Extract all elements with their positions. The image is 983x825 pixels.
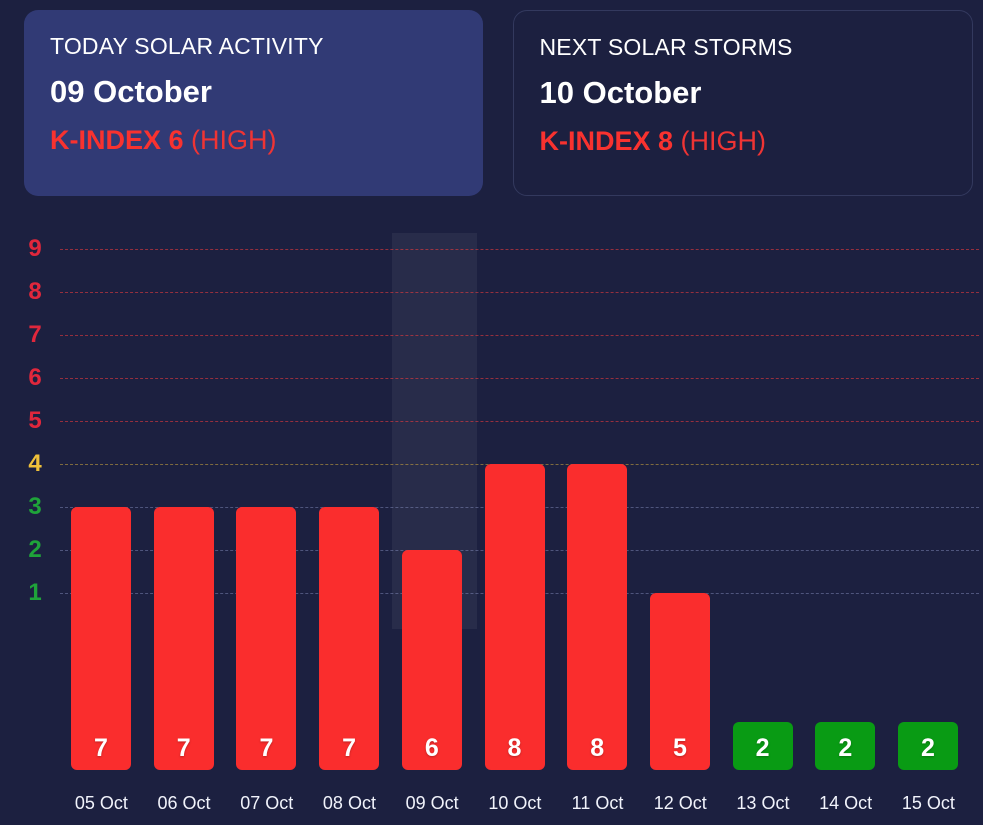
y-axis-tick-7: 7 — [18, 323, 52, 347]
chart-column[interactable]: 609 Oct — [391, 196, 474, 825]
bar-06-oct[interactable]: 7 — [154, 507, 214, 770]
x-axis-label: 11 Oct — [556, 793, 639, 813]
bar-11-oct[interactable]: 8 — [567, 464, 627, 770]
y-axis-tick-9: 9 — [18, 237, 52, 261]
card-title: TODAY SOLAR ACTIVITY — [50, 32, 457, 60]
x-axis-label: 05 Oct — [60, 793, 143, 813]
chart-column[interactable]: 705 Oct — [60, 196, 143, 825]
bar-12-oct[interactable]: 5 — [650, 593, 710, 770]
bar-value-label: 2 — [921, 736, 935, 770]
bar-14-oct[interactable]: 2 — [815, 722, 875, 770]
y-axis-tick-1: 1 — [18, 581, 52, 605]
bar-value-label: 7 — [94, 736, 108, 770]
bar-value-label: 7 — [259, 736, 273, 770]
y-axis-tick-4: 4 — [18, 452, 52, 476]
chart-column[interactable]: 811 Oct — [556, 196, 639, 825]
chart-column[interactable]: 215 Oct — [887, 196, 970, 825]
chart-column[interactable]: 213 Oct — [722, 196, 805, 825]
x-axis-label: 14 Oct — [804, 793, 887, 813]
bar-value-label: 5 — [673, 736, 687, 770]
x-axis-label: 15 Oct — [887, 793, 970, 813]
chart-column[interactable]: 706 Oct — [143, 196, 226, 825]
bar-value-label: 7 — [177, 736, 191, 770]
bar-08-oct[interactable]: 7 — [319, 507, 379, 770]
y-axis-tick-6: 6 — [18, 366, 52, 390]
card-date: 10 October — [540, 75, 947, 111]
chart-column[interactable]: 810 Oct — [474, 196, 557, 825]
card-kindex-level: (HIGH) — [191, 125, 276, 155]
x-axis-label: 08 Oct — [308, 793, 391, 813]
card-kindex-level: (HIGH) — [681, 126, 766, 156]
bar-value-label: 7 — [342, 736, 356, 770]
card-kindex-value: K-INDEX 8 — [540, 126, 674, 156]
bar-value-label: 2 — [838, 736, 852, 770]
card-title: NEXT SOLAR STORMS — [540, 33, 947, 61]
bar-13-oct[interactable]: 2 — [733, 722, 793, 770]
chart-column[interactable]: 512 Oct — [639, 196, 722, 825]
y-axis-tick-8: 8 — [18, 280, 52, 304]
bar-value-label: 8 — [590, 736, 604, 770]
x-axis-label: 07 Oct — [225, 793, 308, 813]
x-axis-label: 12 Oct — [639, 793, 722, 813]
y-axis-tick-3: 3 — [18, 495, 52, 519]
chart-column[interactable]: 708 Oct — [308, 196, 391, 825]
card-kindex-value: K-INDEX 6 — [50, 125, 184, 155]
chart-column[interactable]: 214 Oct — [804, 196, 887, 825]
x-axis-label: 10 Oct — [474, 793, 557, 813]
bar-10-oct[interactable]: 8 — [485, 464, 545, 770]
card-kindex-line: K-INDEX 6 (HIGH) — [50, 124, 457, 156]
bar-15-oct[interactable]: 2 — [898, 722, 958, 770]
bar-09-oct[interactable]: 6 — [402, 550, 462, 770]
x-axis-label: 06 Oct — [143, 793, 226, 813]
y-axis-tick-5: 5 — [18, 409, 52, 433]
bar-07-oct[interactable]: 7 — [236, 507, 296, 770]
summary-cards: TODAY SOLAR ACTIVITY 09 October K-INDEX … — [0, 0, 983, 196]
y-axis-tick-2: 2 — [18, 538, 52, 562]
bar-05-oct[interactable]: 7 — [71, 507, 131, 770]
bar-value-label: 2 — [756, 736, 770, 770]
chart-bars: 705 Oct706 Oct707 Oct708 Oct609 Oct810 O… — [60, 196, 959, 825]
bar-value-label: 6 — [425, 736, 439, 770]
card-next-solar-storms[interactable]: NEXT SOLAR STORMS 10 October K-INDEX 8 (… — [513, 10, 974, 196]
card-today-solar-activity[interactable]: TODAY SOLAR ACTIVITY 09 October K-INDEX … — [24, 10, 483, 196]
card-kindex-line: K-INDEX 8 (HIGH) — [540, 125, 947, 157]
kindex-bar-chart: 987654321 705 Oct706 Oct707 Oct708 Oct60… — [0, 196, 983, 629]
bar-value-label: 8 — [508, 736, 522, 770]
chart-column[interactable]: 707 Oct — [225, 196, 308, 825]
x-axis-label: 09 Oct — [391, 793, 474, 813]
x-axis-label: 13 Oct — [722, 793, 805, 813]
card-date: 09 October — [50, 74, 457, 110]
